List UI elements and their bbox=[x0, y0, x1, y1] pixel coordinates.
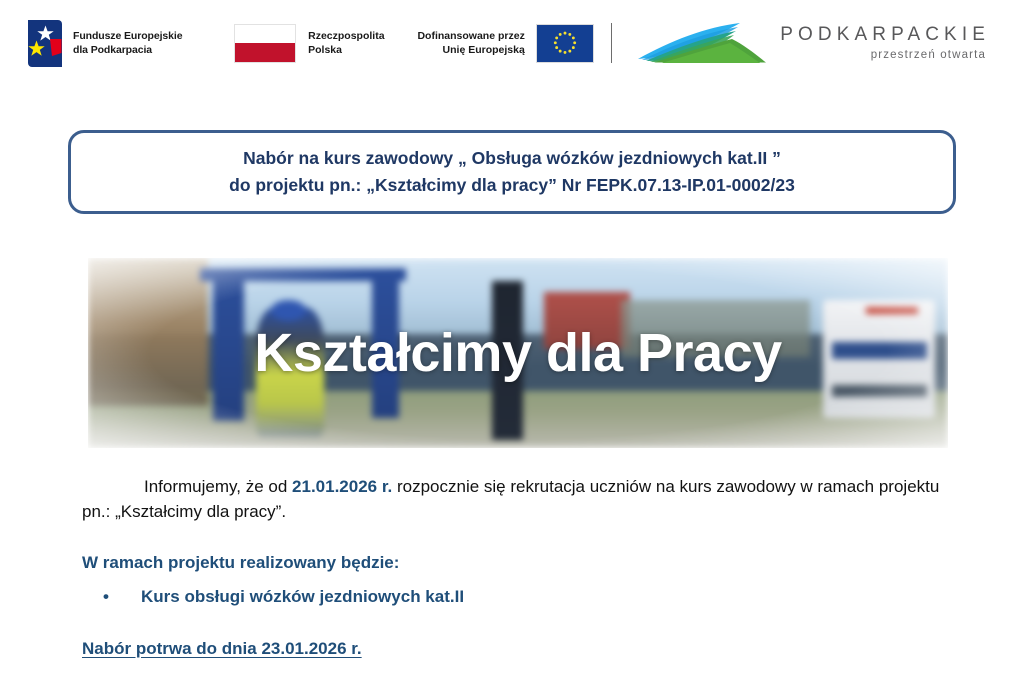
podkarpackie-wordmark: PODKARPACKIE przestrzeń otwarta bbox=[780, 25, 990, 61]
eu-caption: Dofinansowane przez Unię Europejską bbox=[417, 29, 524, 57]
project-scope-subheading: W ramach projektu realizowany będzie: bbox=[82, 553, 399, 573]
eu-caption-line2: Unię Europejską bbox=[417, 43, 524, 57]
recruitment-deadline: Nabór potrwa do dnia 23.01.2026 r. bbox=[82, 639, 362, 659]
poland-flag-red-stripe bbox=[235, 43, 295, 62]
project-banner: Kształcimy dla Pracy bbox=[88, 258, 948, 448]
eu-caption-line1: Dofinansowane przez bbox=[417, 29, 524, 43]
logo-divider bbox=[611, 23, 612, 63]
poland-caption-line1: Rzeczpospolita bbox=[308, 29, 384, 43]
poland-flag-icon bbox=[234, 24, 296, 63]
banner-caption: Kształcimy dla Pracy bbox=[88, 258, 948, 448]
poland-caption-line2: Polska bbox=[308, 43, 384, 57]
logo-rzeczpospolita-polska: Rzeczpospolita Polska bbox=[234, 24, 384, 63]
eu-funds-flag-icon bbox=[28, 20, 62, 67]
logo-european-union: Dofinansowane przez Unię Europejską bbox=[417, 24, 593, 63]
podkarpackie-swoosh-icon bbox=[636, 21, 768, 65]
fundusze-caption-line1: Fundusze Europejskie bbox=[73, 29, 182, 43]
recruitment-start-date: 21.01.2026 r. bbox=[292, 477, 392, 496]
poland-flag-white-stripe bbox=[235, 25, 295, 44]
poland-caption: Rzeczpospolita Polska bbox=[308, 29, 384, 57]
intro-paragraph-text: Informujemy, że od 21.01.2026 r. rozpocz… bbox=[82, 474, 944, 524]
course-title-line-1: Nabór na kurs zawodowy „ Obsługa wózków … bbox=[243, 145, 781, 172]
intro-paragraph: Informujemy, że od 21.01.2026 r. rozpocz… bbox=[82, 474, 944, 524]
course-title-box: Nabór na kurs zawodowy „ Obsługa wózków … bbox=[68, 130, 956, 214]
logo-podkarpackie: PODKARPACKIE przestrzeń otwarta bbox=[636, 21, 990, 65]
intro-text-before: Informujemy, że od bbox=[144, 477, 292, 496]
list-item: • Kurs obsługi wózków jezdniowych kat.II bbox=[103, 587, 464, 607]
course-title-line-2: do projektu pn.: „Kształcimy dla pracy” … bbox=[229, 172, 795, 199]
bullet-dot-icon: • bbox=[103, 588, 123, 605]
podkarpackie-tagline: przestrzeń otwarta bbox=[780, 49, 990, 61]
european-union-flag-icon bbox=[536, 24, 594, 63]
podkarpackie-name: PODKARPACKIE bbox=[780, 25, 990, 44]
logo-fundusze-europejskie: Fundusze Europejskie dla Podkarpacia bbox=[28, 20, 182, 67]
logo-fundusze-caption: Fundusze Europejskie dla Podkarpacia bbox=[73, 29, 182, 57]
eu-funding-logo-bar: Fundusze Europejskie dla Podkarpacia Rze… bbox=[0, 0, 1024, 86]
list-item-label: Kurs obsługi wózków jezdniowych kat.II bbox=[141, 587, 464, 607]
fundusze-caption-line2: dla Podkarpacia bbox=[73, 43, 182, 57]
eu-stars-circle bbox=[537, 25, 593, 62]
